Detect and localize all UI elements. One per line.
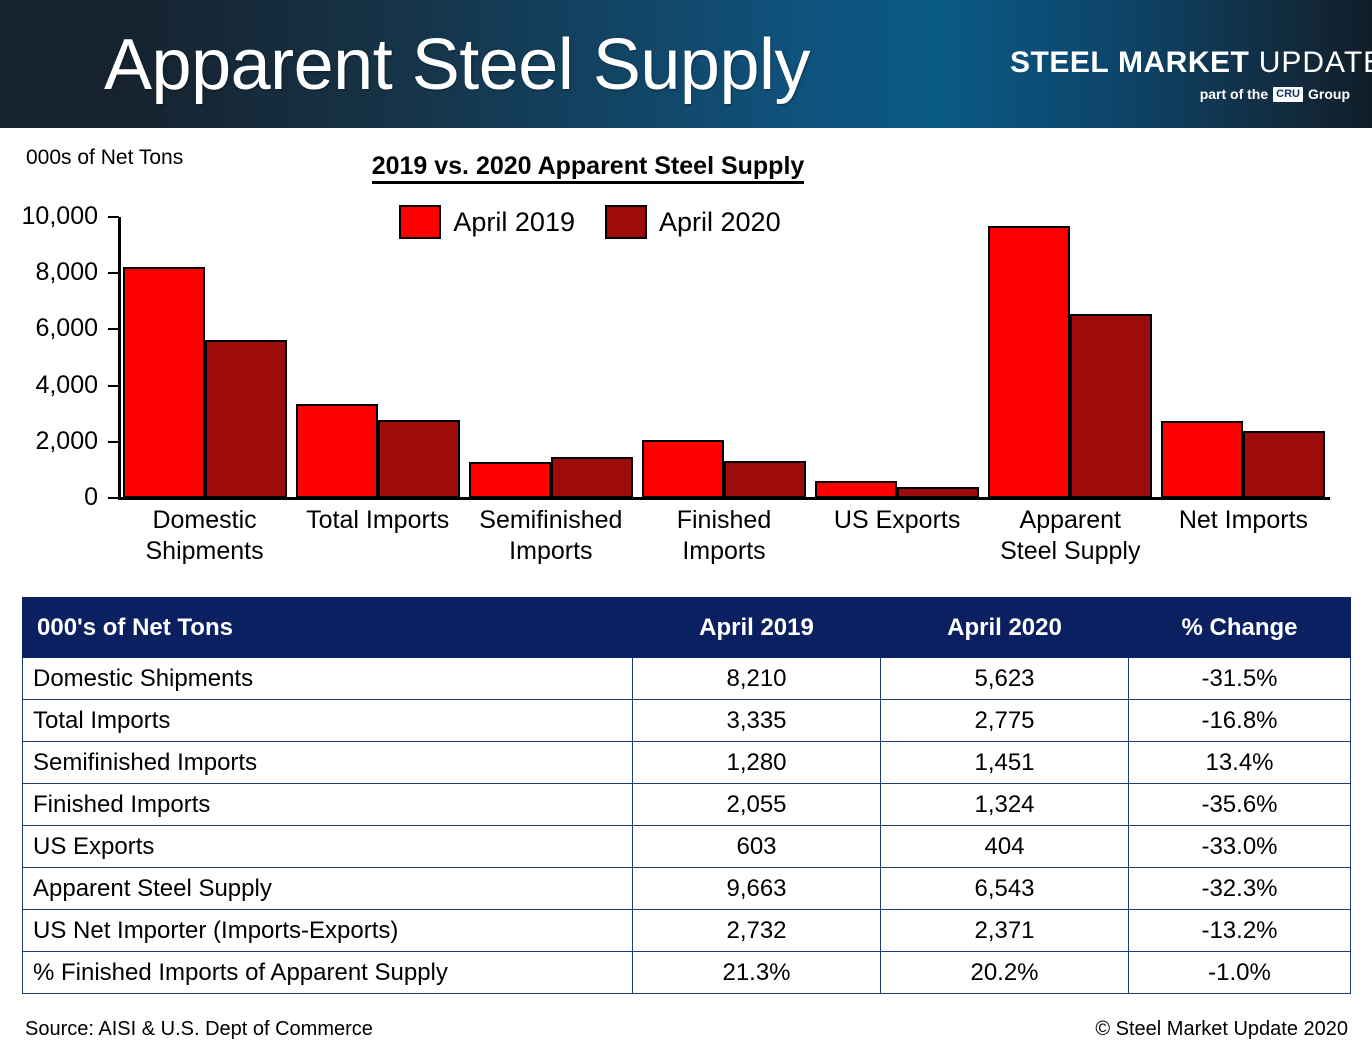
x-axis-category-label: Total Imports bbox=[279, 505, 476, 536]
table-cell-change: -16.8% bbox=[1129, 700, 1351, 742]
bar-2020 bbox=[897, 487, 979, 498]
bar-series-container bbox=[118, 217, 1330, 498]
bar-2019 bbox=[988, 226, 1070, 498]
table-header-change: % Change bbox=[1129, 598, 1351, 658]
cru-badge: CRU bbox=[1273, 87, 1303, 102]
table-cell-label: US Net Importer (Imports-Exports) bbox=[23, 910, 633, 952]
table-cell-change: 13.4% bbox=[1129, 742, 1351, 784]
bar-2020 bbox=[551, 457, 633, 498]
table-cell-change: -32.3% bbox=[1129, 868, 1351, 910]
slide-root: Apparent Steel Supply STEEL MARKET UPDAT… bbox=[0, 0, 1372, 1050]
x-axis-label-line: Net Imports bbox=[1145, 505, 1342, 536]
x-axis-label-line: Finished bbox=[625, 505, 822, 536]
bar-2020 bbox=[1243, 431, 1325, 498]
table-cell-apr2020: 1,451 bbox=[881, 742, 1129, 784]
table-row: US Net Importer (Imports-Exports)2,7322,… bbox=[23, 910, 1351, 952]
page-title: Apparent Steel Supply bbox=[104, 24, 810, 106]
x-axis-category-label: US Exports bbox=[799, 505, 996, 536]
logo-tagline: part of the CRU Group bbox=[1200, 86, 1350, 102]
header-banner: Apparent Steel Supply STEEL MARKET UPDAT… bbox=[0, 0, 1372, 128]
y-axis-tick-label: 4,000 bbox=[6, 373, 98, 398]
table-cell-apr2020: 404 bbox=[881, 826, 1129, 868]
chart-title: 2019 vs. 2020 Apparent Steel Supply bbox=[0, 152, 1372, 181]
table-cell-apr2019: 2,055 bbox=[633, 784, 881, 826]
logo-word-steel: STEEL bbox=[1010, 46, 1109, 79]
table-header: 000's of Net Tons April 2019 April 2020 … bbox=[23, 598, 1351, 658]
x-axis-label-line: Imports bbox=[452, 536, 649, 567]
table-cell-apr2020: 2,371 bbox=[881, 910, 1129, 952]
y-axis-tick-label: 10,000 bbox=[6, 204, 98, 229]
table-header-metric: 000's of Net Tons bbox=[23, 598, 633, 658]
bar-group bbox=[811, 217, 984, 498]
logo-tagline-pre: part of the bbox=[1200, 86, 1268, 102]
x-axis-category-label: FinishedImports bbox=[625, 505, 822, 567]
y-axis-tick-label: 6,000 bbox=[6, 316, 98, 341]
table-body: Domestic Shipments8,2105,623-31.5%Total … bbox=[23, 658, 1351, 994]
table-row: US Exports603404-33.0% bbox=[23, 826, 1351, 868]
table-cell-label: Semifinished Imports bbox=[23, 742, 633, 784]
bar-group bbox=[1157, 217, 1330, 498]
table-row: Total Imports3,3352,775-16.8% bbox=[23, 700, 1351, 742]
table-row: Finished Imports2,0551,324-35.6% bbox=[23, 784, 1351, 826]
table-cell-change: -33.0% bbox=[1129, 826, 1351, 868]
table-cell-apr2019: 603 bbox=[633, 826, 881, 868]
table-header-apr2020: April 2020 bbox=[881, 598, 1129, 658]
table-header-row: 000's of Net Tons April 2019 April 2020 … bbox=[23, 598, 1351, 658]
chart-plot-area: 02,0004,0006,0008,00010,000 DomesticShip… bbox=[0, 195, 1372, 525]
steel-market-update-logo: STEEL MARKET UPDATE part of the CRU Grou… bbox=[1004, 10, 1354, 118]
data-table: 000's of Net Tons April 2019 April 2020 … bbox=[22, 597, 1351, 994]
x-axis-label-line: Domestic bbox=[106, 505, 303, 536]
x-axis-label-line: US Exports bbox=[799, 505, 996, 536]
x-axis-category-labels: DomesticShipmentsTotal ImportsSemifinish… bbox=[118, 505, 1330, 575]
logo-word-update: UPDATE bbox=[1259, 46, 1372, 79]
bar-2019 bbox=[123, 267, 205, 498]
x-axis-label-line: Imports bbox=[625, 536, 822, 567]
y-axis-tick-label: 0 bbox=[6, 485, 98, 510]
table-header-apr2019: April 2019 bbox=[633, 598, 881, 658]
table-cell-apr2019: 3,335 bbox=[633, 700, 881, 742]
table-cell-label: % Finished Imports of Apparent Supply bbox=[23, 952, 633, 994]
x-axis-category-label: SemifinishedImports bbox=[452, 505, 649, 567]
y-axis-tick-label: 8,000 bbox=[6, 260, 98, 285]
table-row: Domestic Shipments8,2105,623-31.5% bbox=[23, 658, 1351, 700]
x-axis-category-label: DomesticShipments bbox=[106, 505, 303, 567]
bar-group bbox=[637, 217, 810, 498]
bar-2020 bbox=[378, 420, 460, 498]
table-cell-label: Total Imports bbox=[23, 700, 633, 742]
logo-wordmark: STEEL MARKET UPDATE bbox=[1010, 47, 1354, 79]
bar-2019 bbox=[815, 481, 897, 498]
table-cell-change: -13.2% bbox=[1129, 910, 1351, 952]
table-cell-apr2020: 5,623 bbox=[881, 658, 1129, 700]
bar-2020 bbox=[1070, 314, 1152, 498]
bar-group bbox=[118, 217, 291, 498]
x-axis-label-line: Shipments bbox=[106, 536, 303, 567]
bar-2019 bbox=[1161, 421, 1243, 498]
table-cell-change: -35.6% bbox=[1129, 784, 1351, 826]
table-cell-apr2019: 8,210 bbox=[633, 658, 881, 700]
bar-2020 bbox=[724, 461, 806, 498]
x-axis-label-line: Semifinished bbox=[452, 505, 649, 536]
bar-group bbox=[984, 217, 1157, 498]
table-cell-label: Finished Imports bbox=[23, 784, 633, 826]
table-cell-apr2019: 21.3% bbox=[633, 952, 881, 994]
chart-title-text: 2019 vs. 2020 Apparent Steel Supply bbox=[372, 152, 805, 184]
table-cell-apr2020: 6,543 bbox=[881, 868, 1129, 910]
table-cell-change: -31.5% bbox=[1129, 658, 1351, 700]
table-cell-apr2019: 2,732 bbox=[633, 910, 881, 952]
table-cell-apr2019: 1,280 bbox=[633, 742, 881, 784]
table-cell-label: Apparent Steel Supply bbox=[23, 868, 633, 910]
table-cell-apr2019: 9,663 bbox=[633, 868, 881, 910]
x-axis-category-label: ApparentSteel Supply bbox=[972, 505, 1169, 567]
bar-2019 bbox=[469, 462, 551, 498]
table-cell-label: US Exports bbox=[23, 826, 633, 868]
table-cell-label: Domestic Shipments bbox=[23, 658, 633, 700]
x-axis-label-line: Steel Supply bbox=[972, 536, 1169, 567]
y-axis-tick-label: 2,000 bbox=[6, 429, 98, 454]
table-row: Semifinished Imports1,2801,45113.4% bbox=[23, 742, 1351, 784]
table-row: Apparent Steel Supply9,6636,543-32.3% bbox=[23, 868, 1351, 910]
source-note: Source: AISI & U.S. Dept of Commerce bbox=[25, 1018, 373, 1041]
table-row: % Finished Imports of Apparent Supply21.… bbox=[23, 952, 1351, 994]
table-cell-apr2020: 1,324 bbox=[881, 784, 1129, 826]
logo-word-market: MARKET bbox=[1118, 46, 1249, 79]
x-axis-label-line: Apparent bbox=[972, 505, 1169, 536]
bar-2019 bbox=[642, 440, 724, 498]
logo-tagline-post: Group bbox=[1308, 86, 1350, 102]
bar-2020 bbox=[205, 340, 287, 498]
bar-group bbox=[291, 217, 464, 498]
bar-group bbox=[464, 217, 637, 498]
bar-2019 bbox=[296, 404, 378, 498]
copyright-note: © Steel Market Update 2020 bbox=[1095, 1018, 1348, 1041]
table-cell-apr2020: 2,775 bbox=[881, 700, 1129, 742]
table-cell-apr2020: 20.2% bbox=[881, 952, 1129, 994]
x-axis-category-label: Net Imports bbox=[1145, 505, 1342, 536]
table-cell-change: -1.0% bbox=[1129, 952, 1351, 994]
x-axis-label-line: Total Imports bbox=[279, 505, 476, 536]
